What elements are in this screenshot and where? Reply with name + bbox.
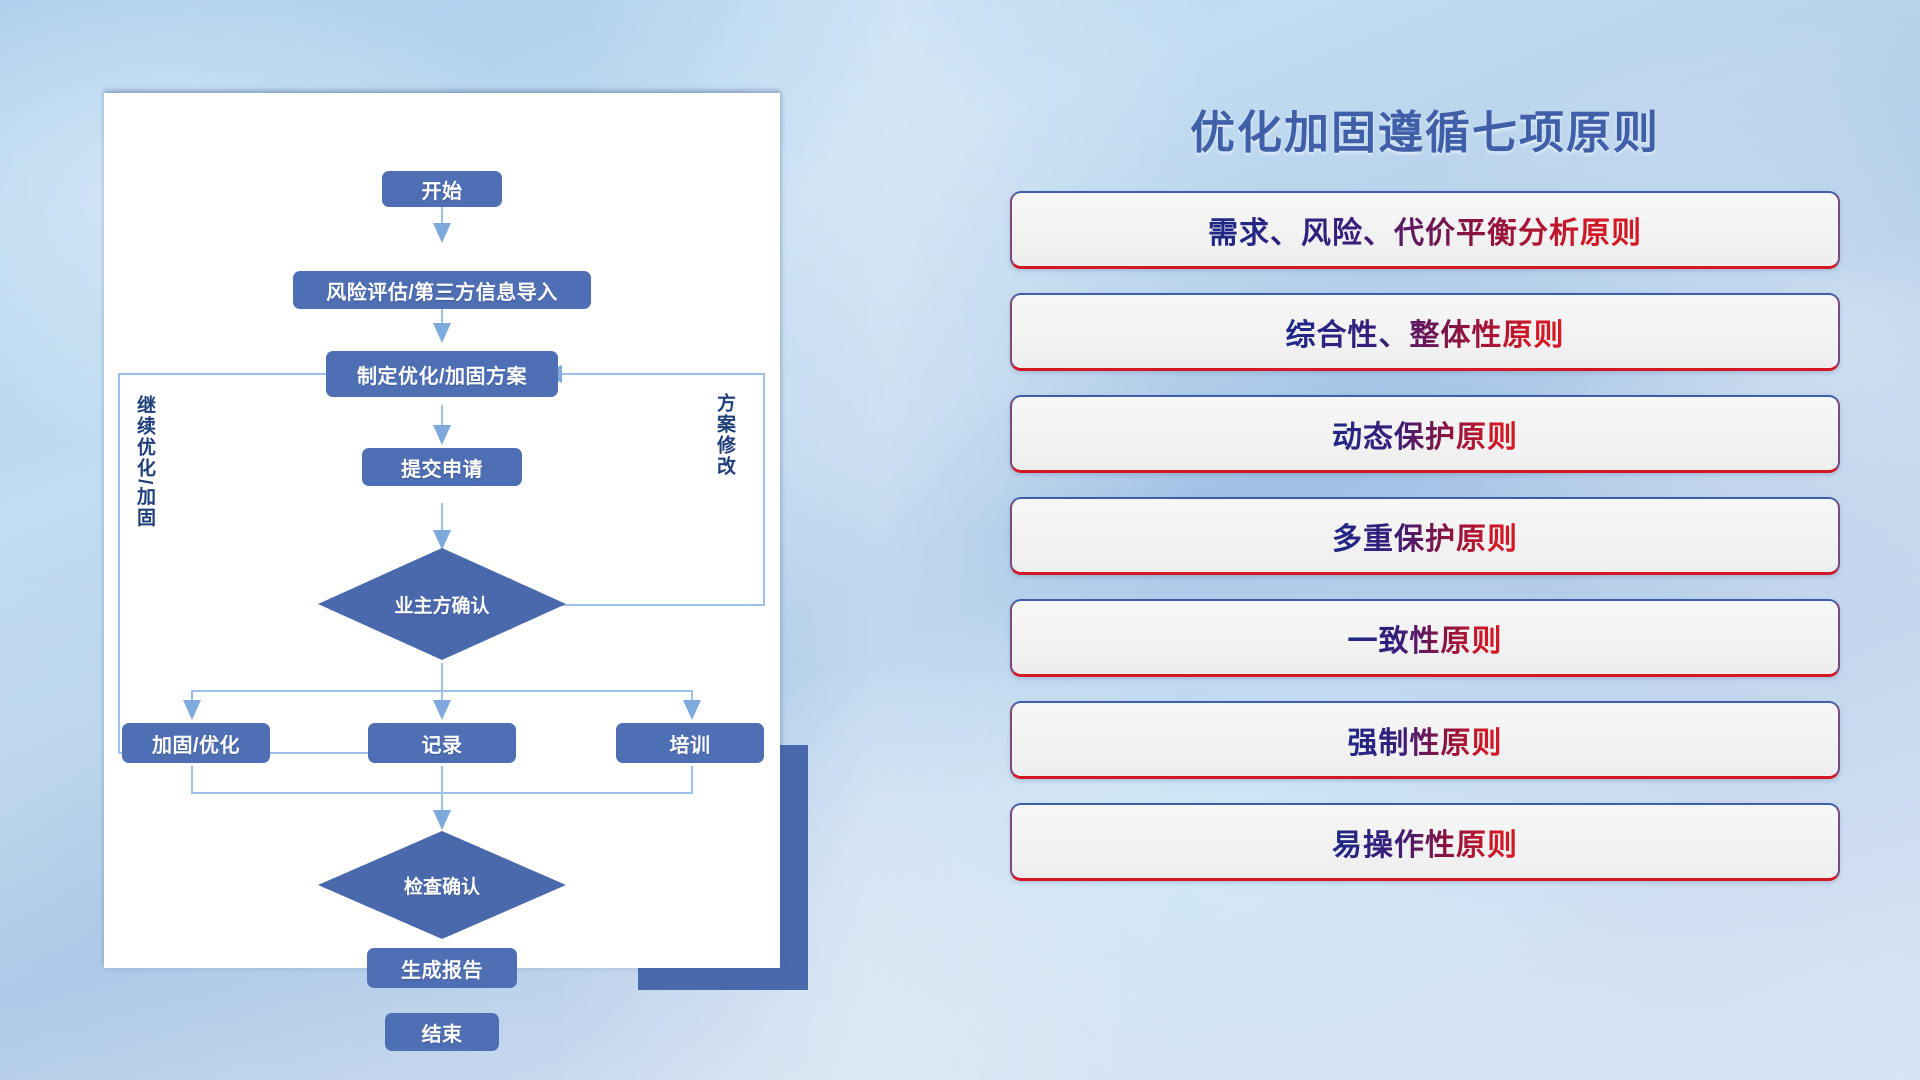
flow-edge-label-continue-optimize: 继续优化/加固 bbox=[134, 395, 154, 575]
principle-card[interactable]: 强制性原则 bbox=[1010, 701, 1840, 779]
flow-node-record[interactable]: 记录 bbox=[368, 723, 516, 763]
flow-node-training[interactable]: 培训 bbox=[616, 723, 764, 763]
principle-label: 一致性原则 bbox=[1348, 616, 1503, 660]
principle-card[interactable]: 动态保护原则 bbox=[1010, 395, 1840, 473]
flow-node-make-plan[interactable]: 制定优化/加固方案 bbox=[326, 351, 558, 397]
flow-node-submit-application[interactable]: 提交申请 bbox=[362, 448, 522, 486]
principle-card[interactable]: 一致性原则 bbox=[1010, 599, 1840, 677]
principle-label: 需求、风险、代价平衡分析原则 bbox=[1208, 208, 1642, 252]
flow-node-label: 生成报告 bbox=[401, 954, 483, 983]
panel-title: 优化加固遵循七项原则 bbox=[1010, 96, 1840, 161]
flow-node-label: 加固/优化 bbox=[152, 729, 240, 758]
flow-node-label: 风险评估/第三方信息导入 bbox=[326, 276, 558, 305]
flow-node-end[interactable]: 结束 bbox=[385, 1013, 499, 1051]
flow-node-label: 结束 bbox=[422, 1018, 463, 1047]
flow-edge-label-plan-revision: 方案修改 bbox=[714, 393, 734, 523]
principle-card[interactable]: 综合性、整体性原则 bbox=[1010, 293, 1840, 371]
principle-label: 易操作性原则 bbox=[1332, 820, 1518, 864]
flow-node-generate-report[interactable]: 生成报告 bbox=[367, 948, 517, 988]
flow-node-start[interactable]: 开始 bbox=[382, 171, 502, 207]
flow-node-label: 提交申请 bbox=[401, 453, 483, 482]
principle-label: 强制性原则 bbox=[1348, 718, 1503, 762]
principle-card[interactable]: 易操作性原则 bbox=[1010, 803, 1840, 881]
principle-card[interactable]: 需求、风险、代价平衡分析原则 bbox=[1010, 191, 1840, 269]
principle-label: 综合性、整体性原则 bbox=[1286, 310, 1565, 354]
flow-node-label: 培训 bbox=[670, 729, 711, 758]
flow-decision-label: 业主方确认 bbox=[394, 591, 489, 618]
principle-label: 动态保护原则 bbox=[1332, 412, 1518, 456]
flow-node-label: 记录 bbox=[422, 729, 463, 758]
flow-node-reinforce-optimize[interactable]: 加固/优化 bbox=[122, 723, 270, 763]
flowchart-card: 开始 风险评估/第三方信息导入 制定优化/加固方案 提交申请 业主方确认 加固/… bbox=[104, 93, 780, 968]
flow-decision-label: 检查确认 bbox=[404, 872, 480, 899]
principle-label: 多重保护原则 bbox=[1332, 514, 1518, 558]
flow-node-risk-assessment[interactable]: 风险评估/第三方信息导入 bbox=[293, 271, 591, 309]
principle-card[interactable]: 多重保护原则 bbox=[1010, 497, 1840, 575]
flow-node-label: 开始 bbox=[422, 175, 463, 204]
flow-node-label: 制定优化/加固方案 bbox=[357, 360, 527, 389]
principles-panel: 优化加固遵循七项原则 需求、风险、代价平衡分析原则 综合性、整体性原则 动态保护… bbox=[1010, 96, 1840, 1016]
